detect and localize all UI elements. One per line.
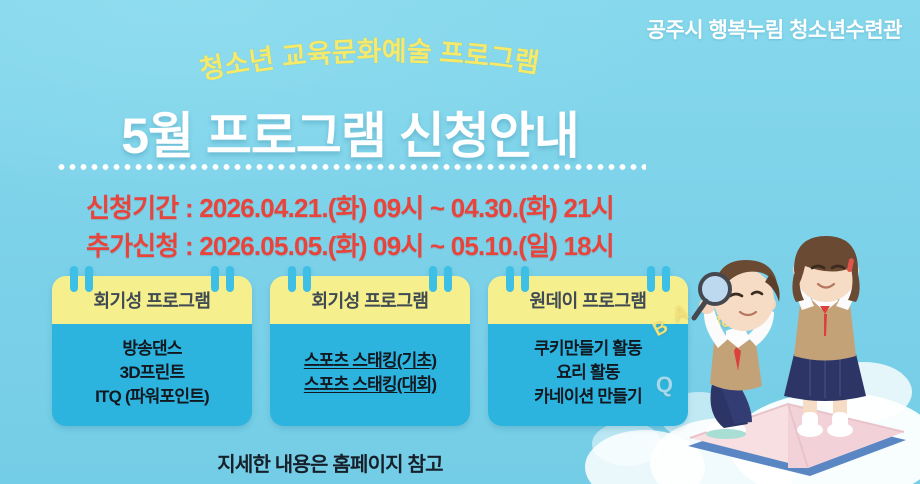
dotted-divider: [56, 164, 646, 170]
program-item: 쿠키만들기 활동: [534, 338, 642, 360]
program-card[interactable]: 원데이 프로그램 쿠키만들기 활동 요리 활동 카네이션 만들기: [488, 276, 688, 426]
page-title: 5월 프로그램 신청안내: [0, 96, 700, 168]
additional-application-text: 추가신청 : 2026.05.05.(화) 09시 ~ 05.10.(일) 18…: [0, 226, 700, 263]
program-card-body: 방송댄스 3D프린트 ITQ (파워포인트): [52, 324, 252, 426]
students-on-book-illustration: [660, 234, 920, 484]
footer-note: 지세한 내용은 홈페이지 참고: [0, 448, 660, 477]
program-card-header: 회기성 프로그램: [52, 276, 252, 324]
program-item: ITQ (파워포인트): [95, 386, 209, 408]
subtitle-arc-text: 청소년 교육문화예술 프로그램: [197, 36, 541, 85]
application-period-text: 신청기간 : 2026.04.21.(화) 09시 ~ 04.30.(화) 21…: [0, 188, 700, 225]
program-item: 3D프린트: [120, 362, 185, 384]
program-item: 카네이션 만들기: [534, 386, 642, 408]
program-card-list: 회기성 프로그램 방송댄스 3D프린트 ITQ (파워포인트): [52, 276, 688, 426]
program-card[interactable]: 회기성 프로그램 스포츠 스태킹(기초) 스포츠 스태킹(대회): [270, 276, 470, 426]
promo-banner: 공주시 행복누림 청소년수련관 청소년 교육문화예술 프로그램 5월 프로그램 …: [0, 0, 920, 484]
svg-text:청소년 교육문화예술 프로그램: 청소년 교육문화예술 프로그램: [197, 36, 541, 85]
program-card-body: 스포츠 스태킹(기초) 스포츠 스태킹(대회): [270, 324, 470, 426]
program-item: 요리 활동: [556, 362, 619, 384]
program-card[interactable]: 회기성 프로그램 방송댄스 3D프린트 ITQ (파워포인트): [52, 276, 252, 426]
program-item: 방송댄스: [122, 338, 181, 360]
program-item: 스포츠 스태킹(기초): [304, 350, 436, 372]
organization-title: 공주시 행복누림 청소년수련관: [647, 14, 902, 44]
program-item: 스포츠 스태킹(대회): [304, 374, 436, 396]
program-card-header: 회기성 프로그램: [270, 276, 470, 324]
